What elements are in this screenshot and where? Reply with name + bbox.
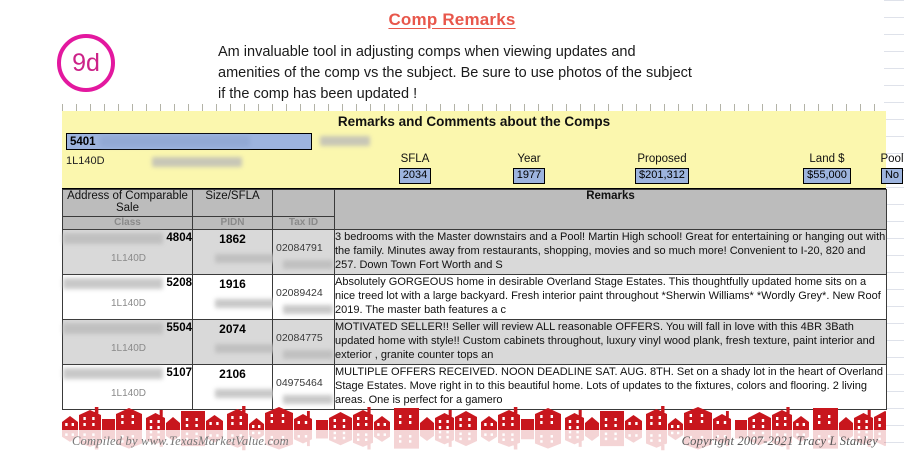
cell-size: 2106 XXXXXX (193, 365, 273, 410)
cell-tax-id: 02089424 XXXX (273, 275, 335, 320)
comp-tax-id: 02084775 (276, 332, 323, 344)
cell-address: XXXXXXXX 5208 1L140D (63, 275, 193, 320)
step-badge: 9d (57, 34, 115, 92)
subject-field-pool-label: Pool (874, 153, 904, 165)
comp-tax-id: 02089424 (276, 287, 323, 299)
cell-address: XXXXXXXX 5504 1L140D (63, 320, 193, 365)
subject-address-cell[interactable]: 5401 XXXXXXXXXXX (66, 133, 312, 150)
comparables-table: Address of Comparable Sale Size/SFLA Rem… (62, 189, 887, 410)
subject-field-year-label: Year (494, 153, 564, 165)
comp-size-value: 1916 (193, 275, 272, 291)
subject-field-pool-value[interactable]: No (881, 168, 903, 184)
comp-address-number: 5107 (166, 367, 192, 379)
comp-class: 1L140D (111, 388, 146, 399)
column-subheader-pidn: PIDN (193, 217, 273, 230)
cell-remarks: 3 bedrooms with the Master downstairs an… (335, 230, 887, 275)
comp-tax-id: 02084791 (276, 242, 323, 254)
subject-address-number: 5401 (67, 136, 96, 148)
comp-address-street-redacted: XXXXXXXX (63, 278, 163, 289)
subject-field-pool: Pool No (874, 153, 904, 184)
column-subheader-tax-id: Tax ID (273, 217, 335, 230)
cell-size: 2074 XXXXXX (193, 320, 273, 365)
subject-field-land: Land $ $55,000 (792, 153, 862, 184)
comp-class: 1L140D (111, 343, 146, 354)
subject-field-sfla-value[interactable]: 2034 (399, 168, 431, 184)
subject-field-sfla-label: SFLA (380, 153, 450, 165)
comp-address-street-redacted: XXXXXXXXXXX (63, 368, 163, 379)
spreadsheet-gridlines (884, 0, 904, 455)
cell-address: XXXXXXXXXXX 5107 1L140D (63, 365, 193, 410)
comp-size-value: 2074 (193, 320, 272, 336)
subject-city-redacted: XXXX (320, 136, 370, 146)
comp-tax-extra-redacted: XXXX (283, 350, 333, 359)
column-header-tax[interactable] (273, 190, 335, 217)
subject-summary-panel: Remarks and Comments about the Comps 540… (62, 111, 886, 189)
cell-size: 1862 XXXXXX (193, 230, 273, 275)
cell-tax-id: 02084791 XXXX (273, 230, 335, 275)
subject-class: 1L140D (66, 155, 105, 167)
table-row[interactable]: XXXXXXXX 5208 1L140D 1916 XXXXXX 0208942… (63, 275, 887, 320)
column-header-size[interactable]: Size/SFLA (193, 190, 273, 217)
subject-field-year-value[interactable]: 1977 (513, 168, 545, 184)
comp-tax-extra-redacted: XXXX (283, 260, 333, 269)
cell-tax-id: 02084775 XXXX (273, 320, 335, 365)
footer-credit-left: Compiled by www.TexasMarketValue.com (72, 434, 289, 449)
comp-address-number: 4804 (166, 232, 192, 244)
table-row[interactable]: XXXXXXXXXXX 5107 1L140D 2106 XXXXXX 0497… (63, 365, 887, 410)
comp-class: 1L140D (111, 253, 146, 264)
page-title: Comp Remarks (0, 10, 904, 30)
table-header-row: Address of Comparable Sale Size/SFLA Rem… (63, 190, 887, 217)
subject-field-proposed-label: Proposed (622, 153, 702, 165)
table-row[interactable]: XXXXXXXX 5504 1L140D 2074 XXXXXX 0208477… (63, 320, 887, 365)
subject-field-proposed-value[interactable]: $201,312 (635, 168, 689, 184)
subject-field-land-value[interactable]: $55,000 (803, 168, 851, 184)
comp-size-value: 1862 (193, 230, 272, 246)
cell-remarks: MULTIPLE OFFERS RECEIVED. NOON DEADLINE … (335, 365, 887, 410)
intro-paragraph: Am invaluable tool in adjusting comps wh… (218, 42, 698, 105)
cell-remarks: Absolutely GORGEOUS home in desirable Ov… (335, 275, 887, 320)
column-header-remarks[interactable]: Remarks (335, 190, 887, 230)
comp-tax-extra-redacted: XXXX (283, 395, 333, 404)
table-row[interactable]: XXXXXXXX 4804 1L140D 1862 XXXXXX 0208479… (63, 230, 887, 275)
comp-size-value: 2106 (193, 365, 272, 381)
subject-panel-heading: Remarks and Comments about the Comps (62, 114, 886, 129)
houses-border-icon (62, 404, 886, 430)
footer-band: Compiled by www.TexasMarketValue.com Cop… (62, 404, 886, 455)
column-header-address[interactable]: Address of Comparable Sale (63, 190, 193, 217)
subject-pidn-redacted: XXXXXXX (152, 157, 242, 167)
comp-address-street-redacted: XXXXXXXX (63, 323, 163, 334)
ruler-ticks (62, 104, 886, 111)
comp-address-number: 5504 (166, 322, 192, 334)
subject-field-land-label: Land $ (792, 153, 862, 165)
comp-tax-extra-redacted: XXXX (283, 305, 333, 314)
comp-class: 1L140D (111, 298, 146, 309)
comp-address-street-redacted: XXXXXXXX (63, 233, 163, 244)
comp-address-number: 5208 (166, 277, 192, 289)
footer-copyright-right: Copyright 2007-2021 Tracy L Stanley (682, 434, 878, 449)
cell-size: 1916 XXXXXX (193, 275, 273, 320)
subject-field-year: Year 1977 (494, 153, 564, 184)
cell-tax-id: 04975464 XXXX (273, 365, 335, 410)
subject-field-proposed: Proposed $201,312 (622, 153, 702, 184)
column-subheader-class: Class (63, 217, 193, 230)
cell-address: XXXXXXXX 4804 1L140D (63, 230, 193, 275)
subject-field-sfla: SFLA 2034 (380, 153, 450, 184)
cell-remarks: MOTIVATED SELLER!! Seller will review AL… (335, 320, 887, 365)
subject-address-street-redacted: XXXXXXXXXXX (100, 136, 250, 147)
comp-tax-id: 04975464 (276, 377, 323, 389)
